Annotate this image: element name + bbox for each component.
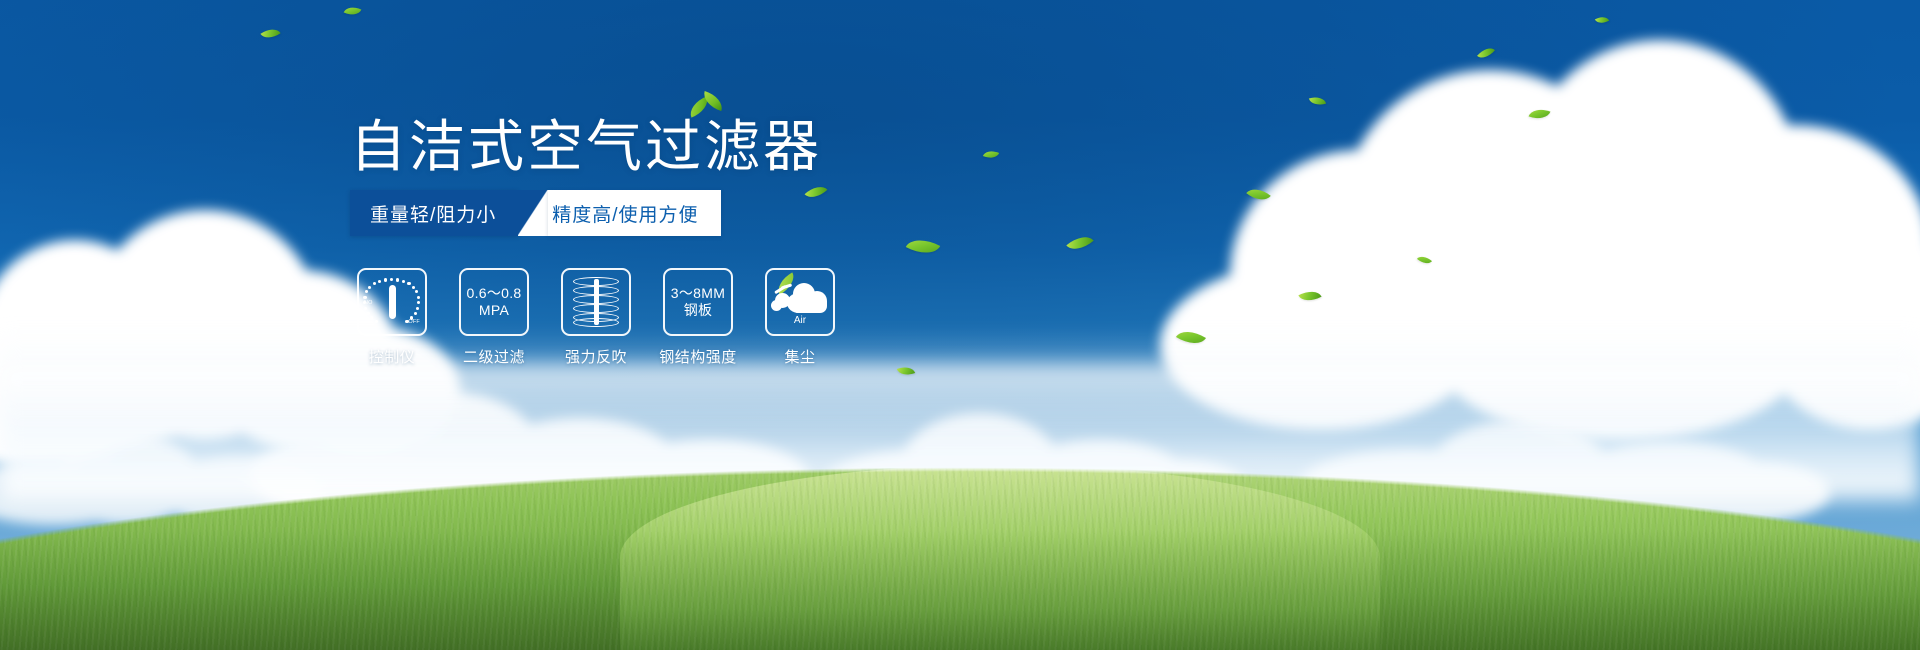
air-cloud-icon: Air [765,268,835,336]
feature-label: 钢结构强度 [659,346,737,367]
feature-tabs: 重量轻/阻力小 精度高/使用方便 [350,190,721,236]
gauge-on-label: NO [364,300,373,306]
pressure-unit: MPA [466,302,521,319]
tab-precision-usability[interactable]: 精度高/使用方便 [548,190,720,236]
steel-plate-icon: 3〜8MM 钢板 [663,268,733,336]
air-label: Air [771,315,829,326]
feature-label: 集尘 [784,346,815,367]
feature-item-filtration[interactable]: 0.6〜0.8 MPA 二级过滤 [458,268,530,367]
tab-divider [518,190,548,236]
feature-item-dust-collection[interactable]: Air 集尘 [764,268,836,367]
feature-label: 强力反吹 [565,346,627,367]
tab-weight-resistance[interactable]: 重量轻/阻力小 [350,190,518,236]
pressure-value: 0.6〜0.8 [466,285,521,302]
feature-icon-list: NO OFF 控制仪 0.6〜0.8 MPA 二级过滤 [356,268,836,367]
banner-content: 自洁式空气过滤器 重量轻/阻力小 精度高/使用方便 [0,0,1920,650]
steel-material: 钢板 [671,302,725,319]
feature-item-controller[interactable]: NO OFF 控制仪 [356,268,428,367]
feature-label: 控制仪 [369,346,416,367]
pressure-icon: 0.6〜0.8 MPA [459,268,529,336]
coil-icon [561,268,631,336]
title-leaf-icon [688,92,728,118]
steel-thickness: 3〜8MM [671,285,725,302]
feature-label: 二级过滤 [463,346,525,367]
feature-item-blowback[interactable]: 强力反吹 [560,268,632,367]
page-title: 自洁式空气过滤器 [350,116,822,178]
feature-item-steel-strength[interactable]: 3〜8MM 钢板 钢结构强度 [662,268,734,367]
product-banner: 自洁式空气过滤器 重量轻/阻力小 精度高/使用方便 [0,0,1920,650]
gauge-icon: NO OFF [357,268,427,336]
gauge-off-label: OFF [408,319,420,325]
